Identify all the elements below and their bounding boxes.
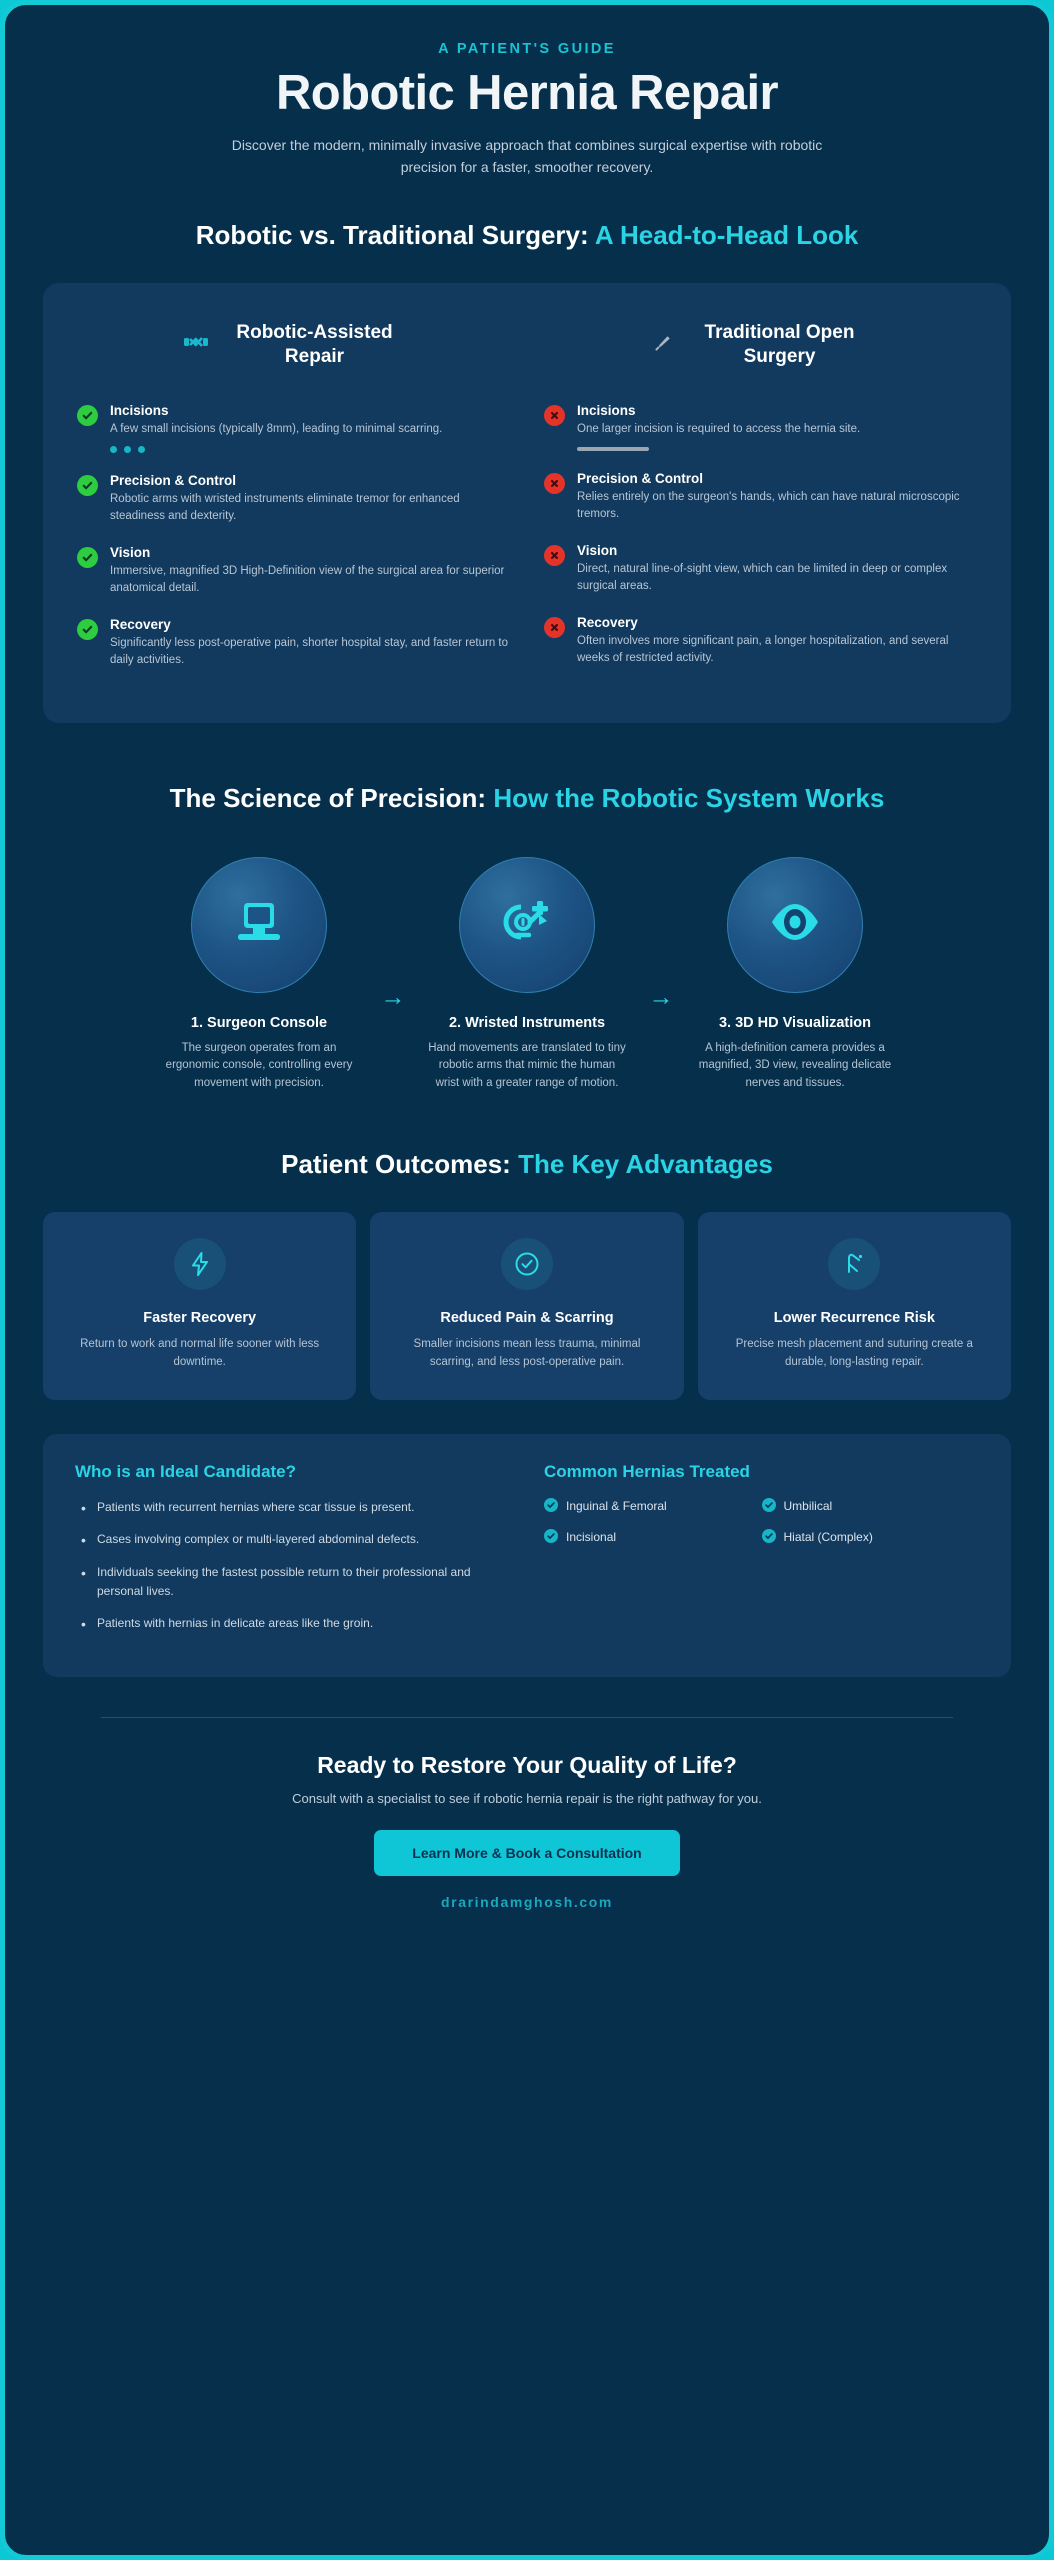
list-item: Inguinal & Femoral	[544, 1498, 762, 1515]
process-steps: 1. Surgeon Console The surgeon operates …	[43, 857, 1011, 1093]
eye-icon	[766, 900, 824, 949]
eyebrow-label: A PATIENT'S GUIDE	[43, 41, 1011, 57]
process-step: 2. Wristed Instruments Hand movements ar…	[416, 857, 638, 1093]
hernia-label: Incisional	[566, 1530, 616, 1544]
feature-item: Recovery Often involves more significant…	[544, 615, 977, 667]
outcome-card: Reduced Pain & Scarring Smaller incision…	[370, 1212, 683, 1400]
feature-desc: Relies entirely on the surgeon's hands, …	[577, 489, 977, 523]
feature-title: Incisions	[577, 403, 860, 418]
robot-icon	[183, 333, 209, 358]
list-item: Cases involving complex or multi-layered…	[75, 1530, 510, 1549]
scalpel-icon	[652, 332, 674, 359]
outcome-desc: Return to work and normal life sooner wi…	[63, 1336, 336, 1372]
feature-desc: Often involves more significant pain, a …	[577, 633, 977, 667]
arrow-right-icon: →	[370, 985, 416, 1010]
check-circle-icon	[501, 1238, 553, 1290]
x-badge-icon	[544, 405, 565, 426]
cta-title: Ready to Restore Your Quality of Life?	[43, 1752, 1011, 1779]
robotic-column-title: Robotic-Assisted Repair	[225, 321, 405, 370]
feature-title: Precision & Control	[110, 473, 510, 488]
common-hernias-column: Common Hernias Treated Inguinal & Femora…	[544, 1462, 979, 1647]
step-circle	[727, 857, 863, 993]
x-badge-icon	[544, 617, 565, 638]
check-badge-icon	[77, 405, 98, 426]
traditional-column-title: Traditional Open Surgery	[690, 321, 870, 370]
outcome-title: Faster Recovery	[63, 1310, 336, 1326]
check-badge-icon	[77, 619, 98, 640]
dot	[110, 446, 117, 453]
book-consultation-button[interactable]: Learn More & Book a Consultation	[374, 1830, 679, 1876]
hernia-label: Umbilical	[784, 1499, 833, 1513]
outcomes-heading-accent: The Key Advantages	[518, 1149, 773, 1179]
feature-desc: Direct, natural line-of-sight view, whic…	[577, 561, 977, 595]
feature-desc: Immersive, magnified 3D High-Definition …	[110, 563, 510, 597]
feature-desc: Robotic arms with wristed instruments el…	[110, 491, 510, 525]
ideal-candidate-column: Who is an Ideal Candidate? Patients with…	[75, 1462, 510, 1647]
shield-repair-icon	[828, 1238, 880, 1290]
process-step: 3. 3D HD Visualization A high-definition…	[684, 857, 906, 1093]
page-title: Robotic Hernia Repair	[43, 67, 1011, 121]
dot	[138, 446, 145, 453]
lightning-icon	[174, 1238, 226, 1290]
feature-item: Incisions A few small incisions (typical…	[77, 403, 510, 453]
common-hernias-heading: Common Hernias Treated	[544, 1462, 979, 1482]
hero-subtitle: Discover the modern, minimally invasive …	[207, 135, 847, 178]
list-item: Incisional	[544, 1529, 762, 1546]
outcomes-heading-main: Patient Outcomes:	[281, 1149, 511, 1179]
outcome-cards: Faster Recovery Return to work and norma…	[43, 1212, 1011, 1400]
x-badge-icon	[544, 545, 565, 566]
hernia-label: Inguinal & Femoral	[566, 1499, 667, 1513]
ideal-candidate-heading: Who is an Ideal Candidate?	[75, 1462, 510, 1482]
outcome-card: Lower Recurrence Risk Precise mesh place…	[698, 1212, 1011, 1400]
check-circle-icon	[762, 1498, 776, 1515]
step-title: 1. Surgeon Console	[148, 1015, 370, 1031]
console-icon	[232, 899, 286, 950]
cta-subtitle: Consult with a specialist to see if robo…	[43, 1791, 1011, 1806]
feature-item: Vision Immersive, magnified 3D High-Defi…	[77, 545, 510, 597]
step-desc: Hand movements are translated to tiny ro…	[416, 1040, 638, 1093]
hernia-grid: Inguinal & Femoral Umbilical Incisional	[544, 1498, 979, 1560]
feature-item: Precision & Control Relies entirely on t…	[544, 471, 977, 523]
comparison-heading-main: Robotic vs. Traditional Surgery:	[196, 220, 589, 250]
robotic-arm-icon	[499, 897, 555, 952]
process-heading-main: The Science of Precision:	[170, 783, 486, 813]
dot	[124, 446, 131, 453]
feature-title: Precision & Control	[577, 471, 977, 486]
comparison-heading: Robotic vs. Traditional Surgery: A Head-…	[43, 218, 1011, 253]
robotic-column: Robotic-Assisted Repair Incisions A few …	[77, 313, 510, 689]
check-circle-icon	[762, 1529, 776, 1546]
feature-item: Precision & Control Robotic arms with wr…	[77, 473, 510, 525]
feature-item: Vision Direct, natural line-of-sight vie…	[544, 543, 977, 595]
outcomes-heading: Patient Outcomes: The Key Advantages	[43, 1147, 1011, 1182]
process-heading-accent: How the Robotic System Works	[493, 783, 884, 813]
step-desc: A high-definition camera provides a magn…	[684, 1040, 906, 1093]
outcome-card: Faster Recovery Return to work and norma…	[43, 1212, 356, 1400]
step-circle	[191, 857, 327, 993]
hernia-label: Hiatal (Complex)	[784, 1530, 873, 1544]
feature-desc: A few small incisions (typically 8mm), l…	[110, 421, 442, 438]
step-circle	[459, 857, 595, 993]
list-item: Individuals seeking the fastest possible…	[75, 1563, 510, 1602]
outcome-title: Reduced Pain & Scarring	[390, 1310, 663, 1326]
feature-title: Incisions	[110, 403, 442, 418]
outcome-title: Lower Recurrence Risk	[718, 1310, 991, 1326]
check-badge-icon	[77, 475, 98, 496]
list-item: Patients with recurrent hernias where sc…	[75, 1498, 510, 1517]
outcome-desc: Precise mesh placement and suturing crea…	[718, 1336, 991, 1372]
comparison-heading-accent: A Head-to-Head Look	[595, 220, 858, 250]
feature-desc: One larger incision is required to acces…	[577, 421, 860, 438]
traditional-column: Traditional Open Surgery Incisions One l…	[544, 313, 977, 689]
dot-marker	[110, 446, 442, 453]
step-desc: The surgeon operates from an ergonomic c…	[148, 1040, 370, 1093]
robotic-column-header: Robotic-Assisted Repair	[77, 313, 510, 377]
footer-section: Ready to Restore Your Quality of Life? C…	[43, 1718, 1011, 1910]
check-circle-icon	[544, 1498, 558, 1515]
list-item: Umbilical	[762, 1498, 980, 1515]
feature-title: Recovery	[577, 615, 977, 630]
step-title: 2. Wristed Instruments	[416, 1015, 638, 1031]
arrow-right-icon: →	[638, 985, 684, 1010]
website-url[interactable]: drarindamghosh.com	[43, 1894, 1011, 1910]
infographic-page: A PATIENT'S GUIDE Robotic Hernia Repair …	[0, 0, 1054, 2560]
x-badge-icon	[544, 473, 565, 494]
feature-title: Recovery	[110, 617, 510, 632]
check-circle-icon	[544, 1529, 558, 1546]
check-badge-icon	[77, 547, 98, 568]
list-item: Hiatal (Complex)	[762, 1529, 980, 1546]
process-step: 1. Surgeon Console The surgeon operates …	[148, 857, 370, 1093]
line-marker	[577, 447, 649, 451]
process-heading: The Science of Precision: How the Roboti…	[43, 781, 1011, 816]
candidate-panel: Who is an Ideal Candidate? Patients with…	[43, 1434, 1011, 1677]
hero-section: A PATIENT'S GUIDE Robotic Hernia Repair …	[43, 5, 1011, 178]
feature-desc: Significantly less post-operative pain, …	[110, 635, 510, 669]
list-item: Patients with hernias in delicate areas …	[75, 1614, 510, 1633]
feature-item: Recovery Significantly less post-operati…	[77, 617, 510, 669]
feature-item: Incisions One larger incision is require…	[544, 403, 977, 451]
candidate-list: Patients with recurrent hernias where sc…	[75, 1498, 510, 1634]
outcome-desc: Smaller incisions mean less trauma, mini…	[390, 1336, 663, 1372]
feature-title: Vision	[577, 543, 977, 558]
feature-title: Vision	[110, 545, 510, 560]
comparison-card: Robotic-Assisted Repair Incisions A few …	[43, 283, 1011, 723]
traditional-column-header: Traditional Open Surgery	[544, 313, 977, 377]
step-title: 3. 3D HD Visualization	[684, 1015, 906, 1031]
